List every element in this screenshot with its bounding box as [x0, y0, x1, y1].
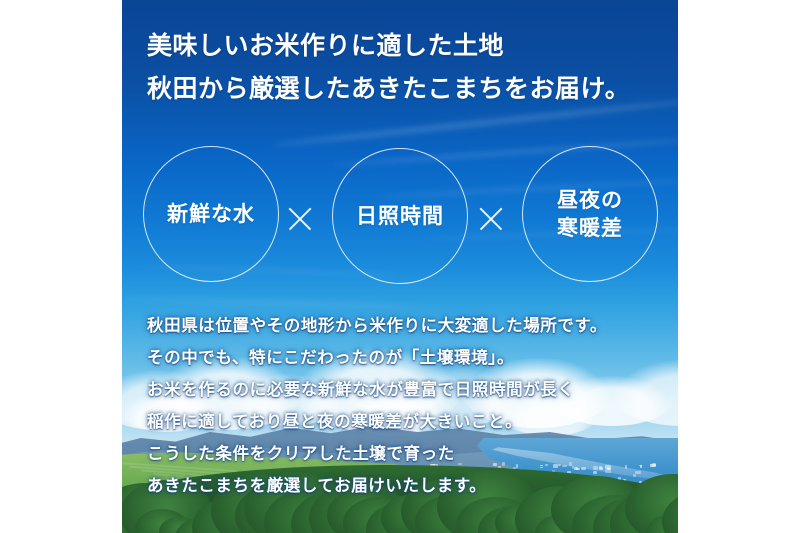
headline-line-1: 美味しいお米作りに適した土地 [147, 24, 678, 67]
feature-circle-sunlight-hours: 日照時間 [332, 148, 468, 284]
feature-circle-fresh-water: 新鮮な水 [143, 146, 279, 282]
feature-label-sunlight-hours: 日照時間 [356, 202, 444, 230]
screenshot-canvas: 美味しいお米作りに適した土地 秋田から厳選したあきたこまちをお届け。 新鮮な水 … [0, 0, 800, 533]
body-line-5: こうした条件をクリアした土壌で育った [147, 438, 667, 470]
headline-line-2: 秋田から厳選したあきたこまちをお届け。 [147, 67, 678, 110]
body-description: 秋田県は位置やその地形から米作りに大変適した場所です。 その中でも、特にこだわっ… [147, 310, 667, 502]
body-line-4: 稲作に適しており昼と夜の寒暖差が大きいこと。 [147, 406, 667, 438]
feature-label-line-2: 寒暖差 [557, 216, 623, 240]
promo-banner: 美味しいお米作りに適した土地 秋田から厳選したあきたこまちをお届け。 新鮮な水 … [122, 0, 678, 533]
feature-label-line-1: 昼夜の [557, 188, 623, 212]
multiply-icon [285, 204, 315, 234]
body-line-2: その中でも、特にこだわったのが「土壌環境」。 [147, 342, 667, 374]
feature-label-fresh-water: 新鮮な水 [167, 200, 255, 228]
body-line-1: 秋田県は位置やその地形から米作りに大変適した場所です。 [147, 310, 667, 342]
body-line-3: お米を作るのに必要な新鮮な水が豊富で日照時間が長く [147, 374, 667, 406]
feature-circle-temperature-range: 昼夜の 寒暖差 [522, 146, 658, 282]
multiply-icon [476, 204, 506, 234]
feature-circles-row: 新鮮な水 日照時間 昼夜の 寒暖差 [122, 146, 678, 286]
body-line-6: あきたこまちを厳選してお届けいたします。 [147, 470, 667, 502]
page-title: 美味しいお米作りに適した土地 秋田から厳選したあきたこまちをお届け。 [122, 24, 678, 110]
feature-label-temperature-range: 昼夜の 寒暖差 [557, 186, 623, 242]
